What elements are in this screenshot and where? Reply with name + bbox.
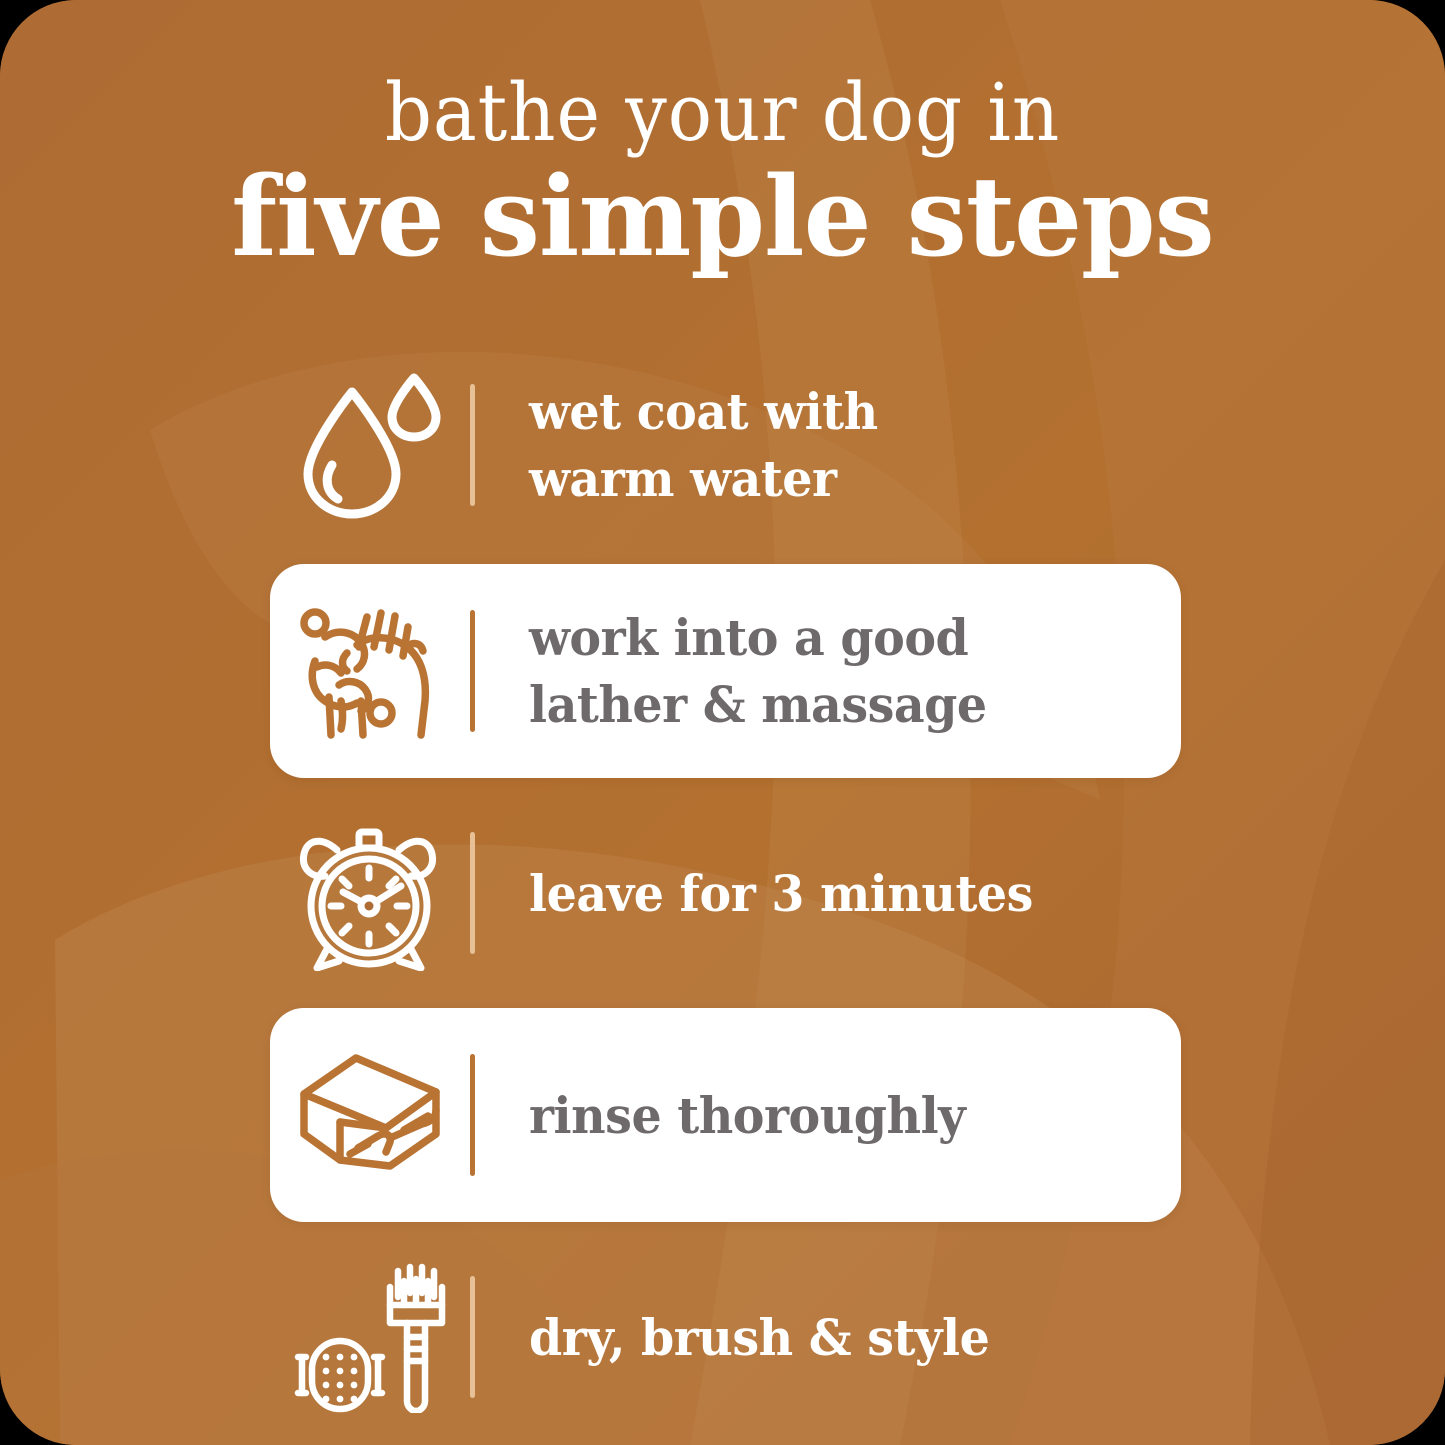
spacer [0, 552, 1445, 564]
step-label-1: wet coat with warm water [529, 378, 1148, 512]
step-label-4: rinse thoroughly [529, 1082, 1148, 1149]
step-label-line: dry, brush & style [529, 1304, 1148, 1371]
steps-list: wet coat with warm water [0, 338, 1445, 1444]
step-label-line: work into a good [529, 604, 1148, 671]
folded-towels-icon [270, 1030, 470, 1200]
title-line-1: bathe your dog in [58, 72, 1387, 154]
step-label-line: leave for 3 minutes [529, 860, 1148, 927]
step-divider [470, 832, 475, 954]
step-row-1: wet coat with warm water [270, 338, 1181, 552]
spacer [0, 1000, 1445, 1008]
step-label-line: rinse thoroughly [529, 1082, 1148, 1149]
step-divider [470, 384, 475, 506]
step-row-4: rinse thoroughly [270, 1008, 1181, 1222]
step-label-2: work into a good lather & massage [529, 604, 1148, 738]
step-label-line: lather & massage [529, 671, 1148, 738]
step-divider [470, 1054, 475, 1176]
step-row-2: work into a good lather & massage [270, 564, 1181, 778]
spacer [0, 778, 1445, 786]
brush-and-comb-icon [270, 1252, 470, 1422]
step-divider [470, 610, 475, 732]
step-divider [470, 1276, 475, 1398]
hands-lather-icon [270, 586, 470, 756]
step-row-3: leave for 3 minutes [270, 786, 1181, 1000]
step-label-line: warm water [529, 445, 1148, 512]
water-drop-icon [270, 360, 470, 530]
step-label-5: dry, brush & style [529, 1304, 1148, 1371]
step-label-line: wet coat with [529, 378, 1148, 445]
infographic-poster: bathe your dog in five simple steps wet … [0, 0, 1445, 1445]
alarm-clock-icon [270, 808, 470, 978]
page-title: bathe your dog in five simple steps [0, 72, 1445, 274]
step-row-5: dry, brush & style [270, 1230, 1181, 1444]
title-line-2: five simple steps [22, 160, 1424, 274]
step-label-3: leave for 3 minutes [529, 860, 1148, 927]
spacer [0, 1222, 1445, 1230]
